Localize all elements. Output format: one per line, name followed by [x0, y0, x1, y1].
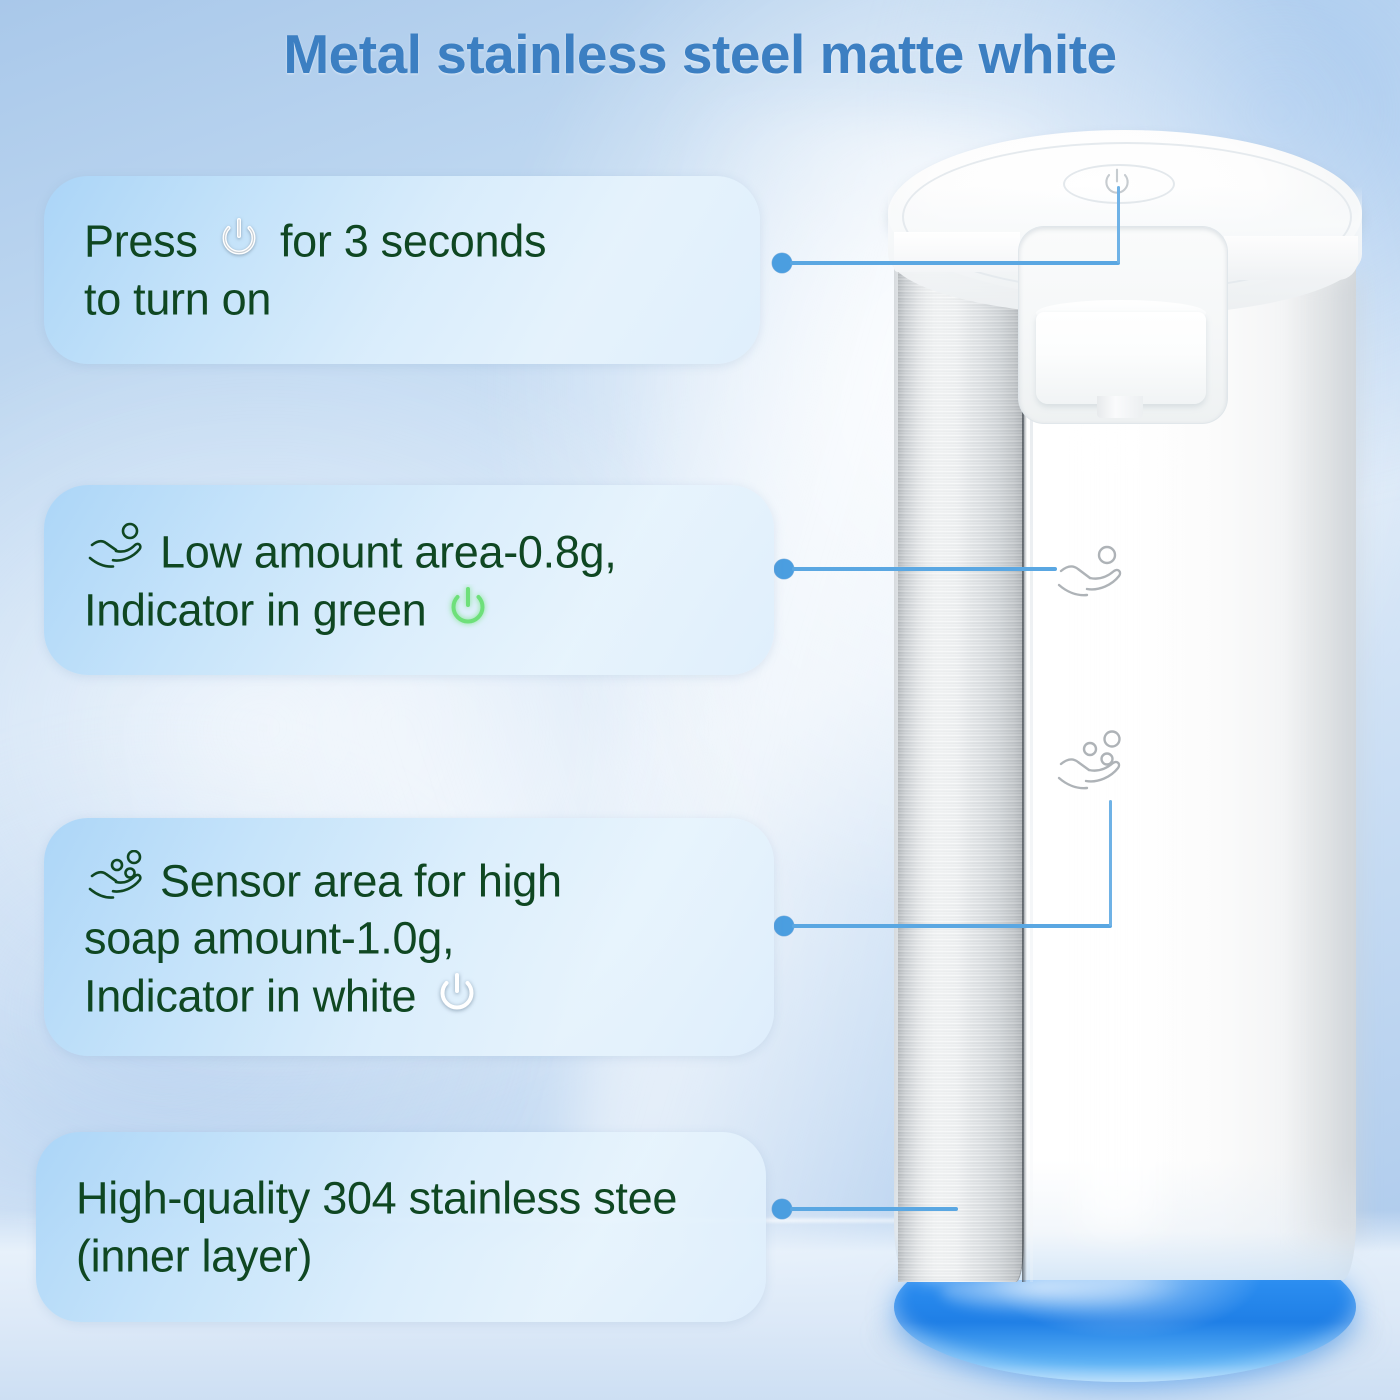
callout-low-amount-text: Low amount area-0.8g, Indicator in green — [44, 521, 774, 638]
callout-power-on-line1a: Press — [84, 216, 198, 267]
hand-three-drops-sensor — [1050, 730, 1136, 800]
callout-high-amount-text: Sensor area for high soap amount-1.0g, I… — [44, 850, 774, 1025]
nozzle-tip — [1097, 396, 1143, 418]
power-icon-green — [445, 584, 491, 630]
power-icon-white — [216, 215, 262, 261]
lid-shoulder-left — [894, 232, 1020, 272]
callout-power-on[interactable]: Press for 3 seconds to turn on — [44, 176, 760, 364]
soap-nozzle — [1036, 312, 1206, 404]
callout-high-amount-line1: Sensor area for high — [160, 855, 562, 906]
callout-stainless-line1: High-quality 304 stainless — [76, 1173, 581, 1224]
callout-low-amount-line1: Low amount area-0.8g, — [160, 527, 617, 578]
page-title: Metal stainless steel matte white — [0, 22, 1400, 86]
callout-power-on-line1b: for 3 seconds — [280, 216, 546, 267]
hand-three-drops-icon — [84, 850, 152, 906]
hand-one-drop-icon — [84, 521, 152, 577]
callout-stainless-steel[interactable]: High-quality 304 stainless stee (inner l… — [36, 1132, 766, 1322]
callout-power-on-text: Press for 3 seconds to turn on — [44, 212, 760, 327]
callout-high-amount-line3: Indicator in white — [84, 970, 416, 1021]
callout-stainless-steel-text: High-quality 304 stainless stee (inner l… — [36, 1169, 766, 1284]
infographic-canvas: Metal stainless steel matte white — [0, 0, 1400, 1400]
body-right-shading — [1290, 280, 1360, 1240]
callout-low-amount[interactable]: Low amount area-0.8g, Indicator in green — [44, 485, 774, 675]
callout-high-amount[interactable]: Sensor area for high soap amount-1.0g, I… — [44, 818, 774, 1056]
lid-shoulder-right — [1224, 236, 1358, 280]
power-icon-white-2 — [434, 970, 480, 1016]
callout-high-amount-line2: soap amount-1.0g, — [84, 913, 454, 964]
steel-gloss-highlight — [910, 212, 970, 1282]
callout-power-on-line2: to turn on — [84, 274, 271, 325]
callout-low-amount-line2: Indicator in green — [84, 585, 426, 636]
power-icon — [1100, 166, 1134, 198]
hand-one-drop-sensor — [1050, 540, 1136, 610]
